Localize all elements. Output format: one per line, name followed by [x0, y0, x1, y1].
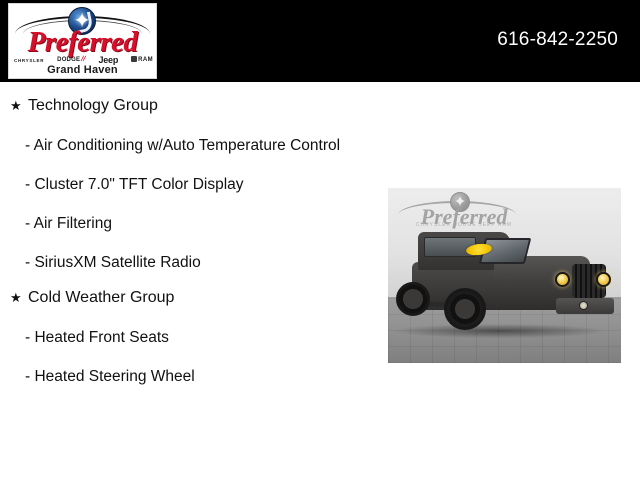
feature-item: - Air Filtering — [0, 214, 370, 233]
brand-chrysler: CHRYSLER — [14, 57, 44, 64]
dealer-logo[interactable]: ✦ Preferred CHRYSLER DODGE// Jeep RAM Gr… — [8, 3, 157, 79]
feature-item: - Heated Steering Wheel — [0, 367, 370, 386]
fog-light-icon — [579, 301, 588, 310]
vehicle-shadow — [394, 324, 604, 338]
feature-group-header: ★ Cold Weather Group — [0, 288, 380, 308]
brand-ram-label: RAM — [138, 57, 153, 63]
vehicle-rear-wheel — [396, 282, 430, 316]
feature-item: - Heated Front Seats — [0, 328, 370, 347]
feature-group-title: Cold Weather Group — [28, 289, 174, 306]
vehicle-front-wheel — [444, 288, 486, 330]
feature-group-header: ★ Technology Group — [0, 96, 380, 116]
star-bullet-icon: ★ — [10, 96, 22, 116]
main-content: ★ Technology Group - Air Conditioning w/… — [0, 82, 640, 480]
logo-city-name: Grand Haven — [9, 64, 156, 76]
headlight-left-icon — [555, 272, 570, 287]
brand-dodge: DODGE// — [57, 56, 85, 64]
feature-groups-list: ★ Technology Group - Air Conditioning w/… — [0, 82, 380, 386]
brand-ram: RAM — [131, 56, 153, 64]
star-bullet-icon: ★ — [10, 288, 22, 308]
jeep-wrangler-illustration — [398, 226, 610, 344]
feature-item: - SiriusXM Satellite Radio — [0, 253, 370, 272]
feature-group-title: Technology Group — [28, 97, 158, 114]
vehicle-photo[interactable]: ✦ Preferred CHRYSLER DODGE JEEP RAM — [388, 188, 621, 363]
feature-item: - Cluster 7.0" TFT Color Display — [0, 175, 370, 194]
ram-head-icon — [131, 56, 137, 62]
headlight-right-icon — [596, 272, 611, 287]
dodge-slashes-icon: // — [80, 56, 87, 63]
brand-dodge-label: DODGE — [57, 57, 80, 63]
logo-brand-name: Preferred — [9, 28, 156, 57]
brand-jeep: Jeep — [98, 57, 118, 64]
dealer-phone-number[interactable]: 616-842-2250 — [497, 29, 618, 51]
site-header: ✦ Preferred CHRYSLER DODGE// Jeep RAM Gr… — [0, 0, 640, 82]
feature-item: - Air Conditioning w/Auto Temperature Co… — [0, 136, 370, 155]
